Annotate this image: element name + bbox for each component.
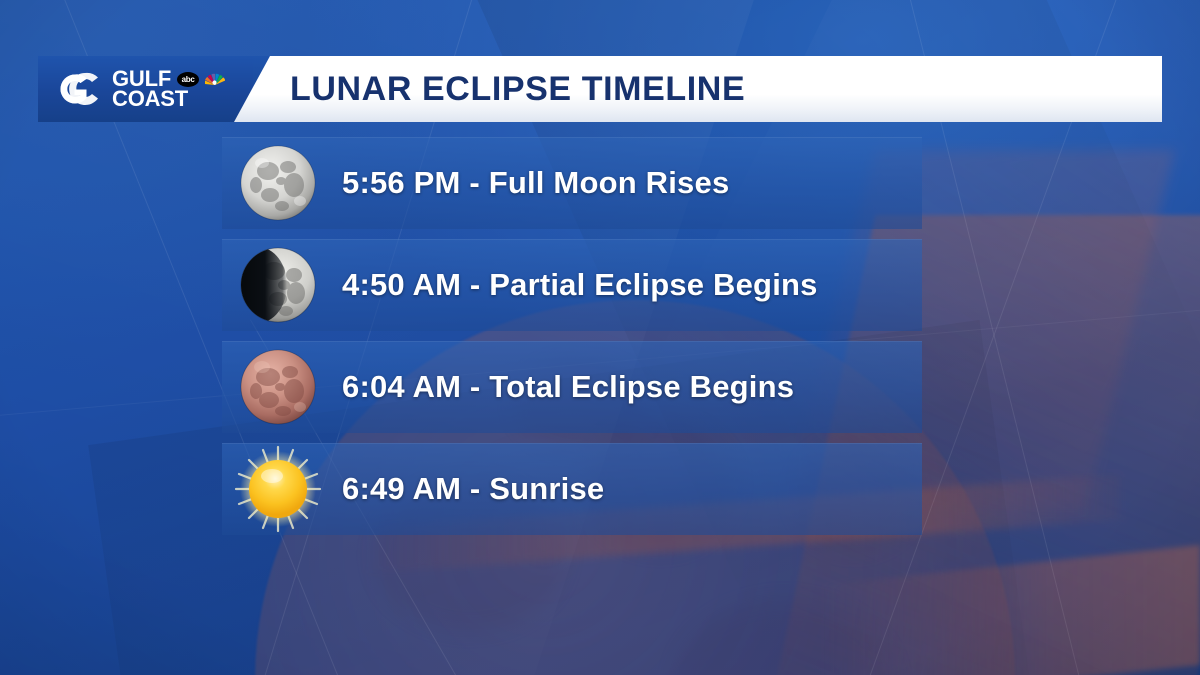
abc-logo-text: abc <box>182 76 195 83</box>
timeline-row-label: 6:49 AM - Sunrise <box>342 471 604 507</box>
timeline-row[interactable]: 6:04 AM - Total Eclipse Begins <box>222 341 922 433</box>
station-logo[interactable]: GULF abc <box>38 56 253 122</box>
blood-moon-icon <box>238 347 318 427</box>
logo-line-coast: COAST <box>112 89 188 109</box>
header: GULF abc <box>38 56 1162 122</box>
partial-eclipse-moon-icon <box>238 245 318 325</box>
timeline-row[interactable]: 4:50 AM - Partial Eclipse Begins <box>222 239 922 331</box>
gc-monogram-icon <box>52 69 102 109</box>
timeline-row[interactable]: 6:49 AM - Sunrise <box>222 443 922 535</box>
timeline-row-label: 6:04 AM - Total Eclipse Begins <box>342 369 794 405</box>
lunar-eclipse-timeline: 5:56 PM - Full Moon Rises <box>222 137 922 545</box>
title-banner: LUNAR ECLIPSE TIMELINE <box>234 56 1162 122</box>
full-moon-icon <box>238 143 318 223</box>
timeline-row-label: 4:50 AM - Partial Eclipse Begins <box>342 267 818 303</box>
page-title: LUNAR ECLIPSE TIMELINE <box>290 70 745 109</box>
abc-logo-icon: abc <box>177 72 199 87</box>
timeline-row[interactable]: 5:56 PM - Full Moon Rises <box>222 137 922 229</box>
timeline-row-label: 5:56 PM - Full Moon Rises <box>342 165 729 201</box>
logo-wordmark: GULF abc <box>112 69 225 109</box>
sun-icon <box>238 449 318 529</box>
nbc-peacock-icon <box>205 70 225 88</box>
